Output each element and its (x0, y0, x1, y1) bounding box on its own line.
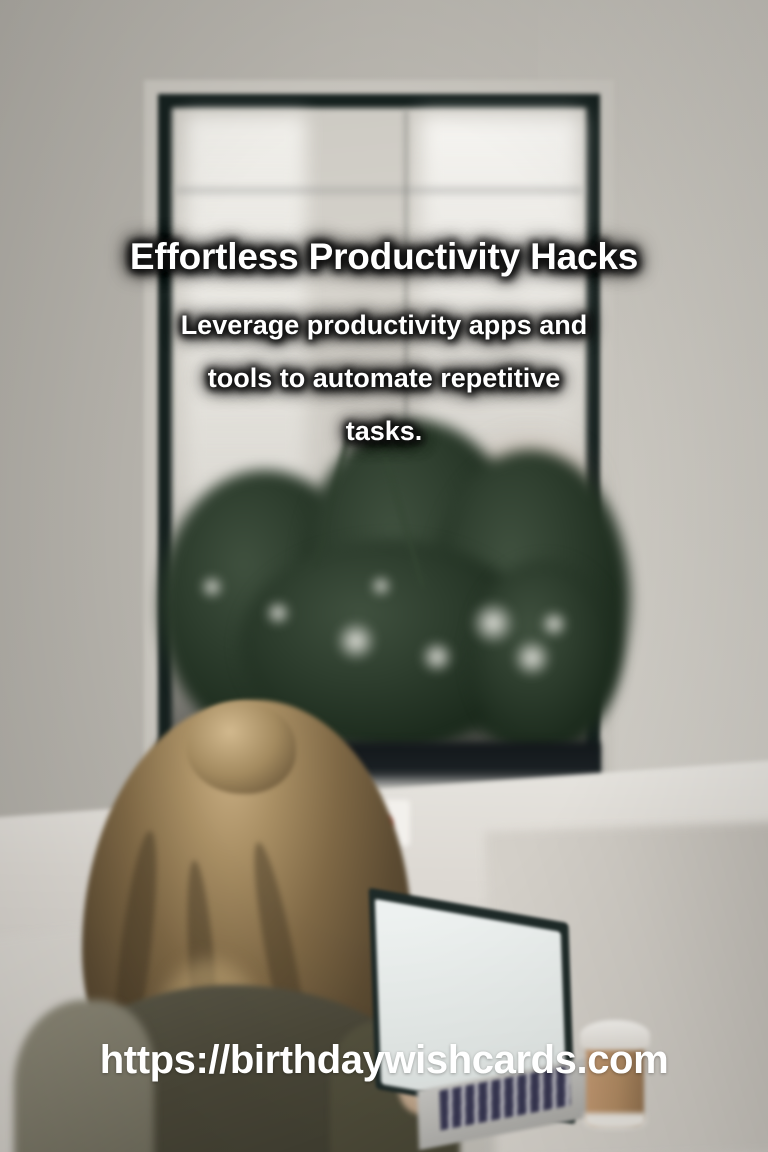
headline-block: Effortless Productivity Hacks (0, 236, 768, 279)
pinterest-style-quote-card: Effortless Productivity Hacks Leverage p… (0, 0, 768, 1152)
text-overlay: Effortless Productivity Hacks Leverage p… (0, 0, 768, 1152)
website-url[interactable]: https://birthdaywishcards.com (100, 1038, 669, 1083)
subheadline-block: Leverage productivity apps and tools to … (0, 312, 768, 471)
page-title: Effortless Productivity Hacks (130, 236, 638, 279)
subheadline-line-1: Leverage productivity apps and (181, 312, 588, 339)
url-block: https://birthdaywishcards.com (0, 1038, 768, 1083)
subheadline-line-3: tasks. (346, 418, 423, 445)
subheadline-line-2: tools to automate repetitive (208, 365, 561, 392)
